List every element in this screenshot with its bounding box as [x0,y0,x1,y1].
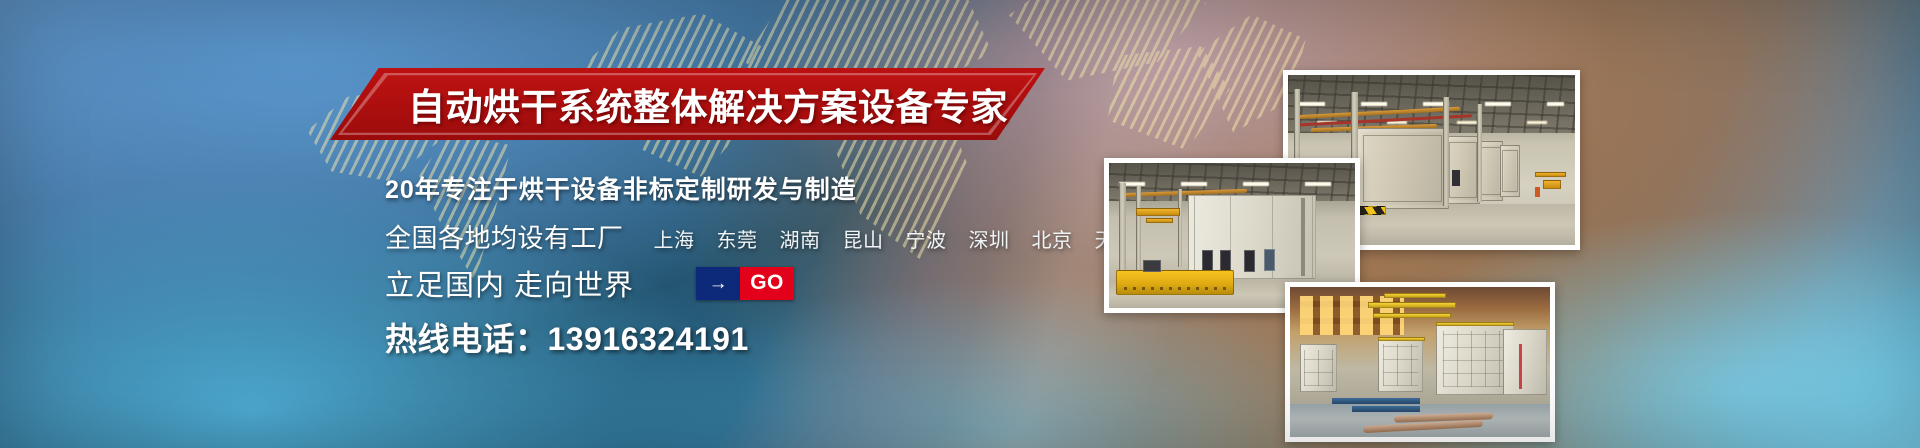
city-item: 昆山 [843,224,884,253]
city-item: 北京 [1032,224,1073,253]
city-item: 宁波 [906,224,947,253]
city-item: 东莞 [717,224,758,253]
slogan-line: 立足国内 走向世界 → GO [385,262,794,304]
hotline-text: 热线电话：13916324191 [385,314,749,360]
photo-production-line-image [1290,287,1550,437]
promo-banner: 自动烘干系统整体解决方案设备专家 20年专注于烘干设备非标定制研发与制造 全国各… [0,0,1920,448]
go-button-label: GO [740,267,794,300]
go-button[interactable]: → GO [696,267,794,300]
coverage-line: 全国各地均设有工厂 上海 东莞 湖南 昆山 宁波 深圳 北京 天津 [385,218,1136,255]
arrow-right-icon: → [696,267,740,300]
city-list: 上海 东莞 湖南 昆山 宁波 深圳 北京 天津 [654,224,1136,253]
headline-banner: 自动烘干系统整体解决方案设备专家 [330,68,1045,140]
city-item: 湖南 [780,224,821,253]
city-item: 深圳 [969,224,1010,253]
photo-production-line [1285,282,1555,442]
subheadline-text: 20年专注于烘干设备非标定制研发与制造 [385,170,857,206]
headline-text: 自动烘干系统整体解决方案设备专家 [330,68,1045,140]
slogan-text: 立足国内 走向世界 [385,262,634,304]
coverage-lead-text: 全国各地均设有工厂 [385,218,624,255]
city-item: 上海 [654,224,695,253]
